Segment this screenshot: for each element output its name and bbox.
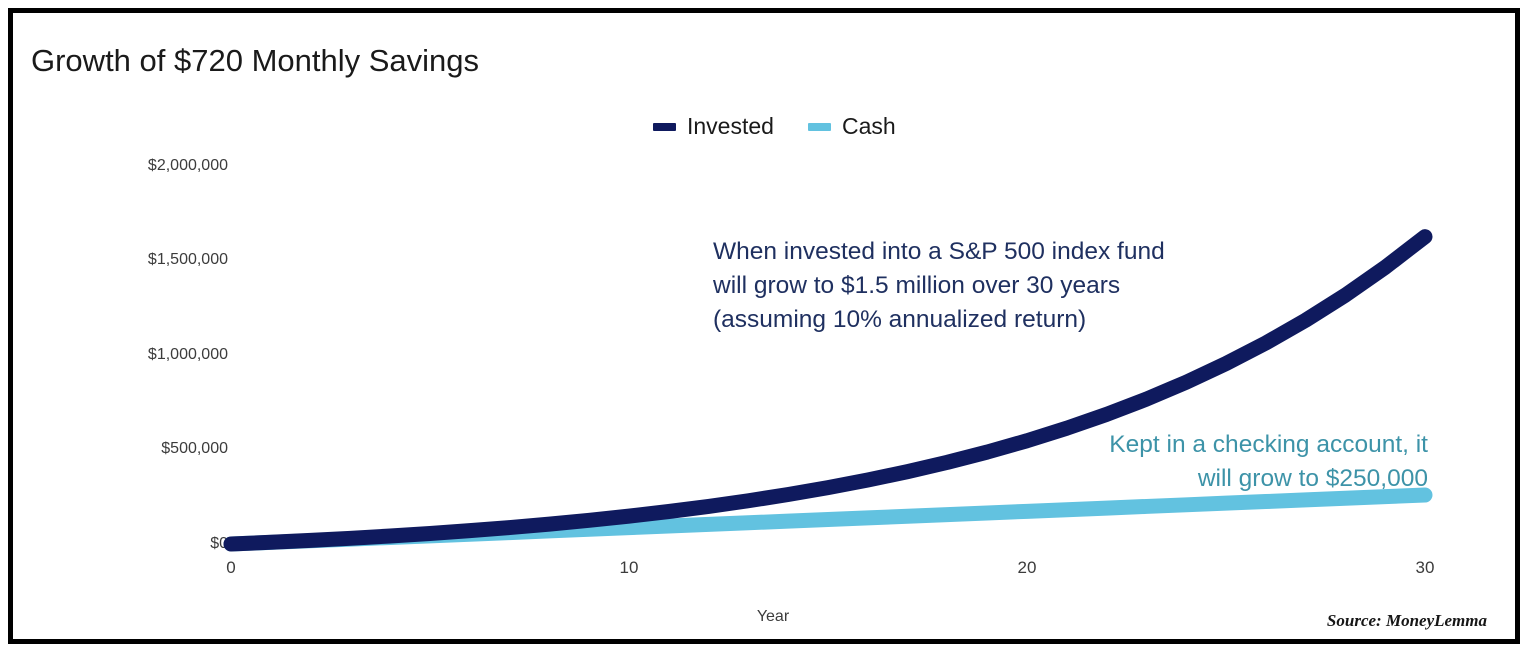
- invested-annotation: When invested into a S&P 500 index fund …: [713, 235, 1165, 336]
- x-axis-tick-labels: 0 10 20 30: [13, 558, 1515, 588]
- x-tick-label: 0: [226, 558, 235, 578]
- cash-annotation: Kept in a checking account, it will grow…: [873, 428, 1428, 496]
- invested-annotation-line: When invested into a S&P 500 index fund: [713, 235, 1165, 269]
- chart-frame: Growth of $720 Monthly Savings Invested …: [8, 8, 1520, 644]
- cash-annotation-line: will grow to $250,000: [873, 462, 1428, 496]
- invested-annotation-line: (assuming 10% annualized return): [713, 303, 1165, 337]
- x-tick-label: 10: [620, 558, 639, 578]
- x-axis-title-label: Year: [757, 608, 789, 625]
- x-tick-label: 20: [1018, 558, 1037, 578]
- chart-canvas: Growth of $720 Monthly Savings Invested …: [13, 13, 1515, 639]
- invested-annotation-line: will grow to $1.5 million over 30 years: [713, 269, 1165, 303]
- x-axis-title: Year: [13, 608, 1515, 626]
- cash-annotation-line: Kept in a checking account, it: [873, 428, 1428, 462]
- x-tick-label: 30: [1416, 558, 1435, 578]
- source-note: Source: MoneyLemma: [1327, 611, 1487, 631]
